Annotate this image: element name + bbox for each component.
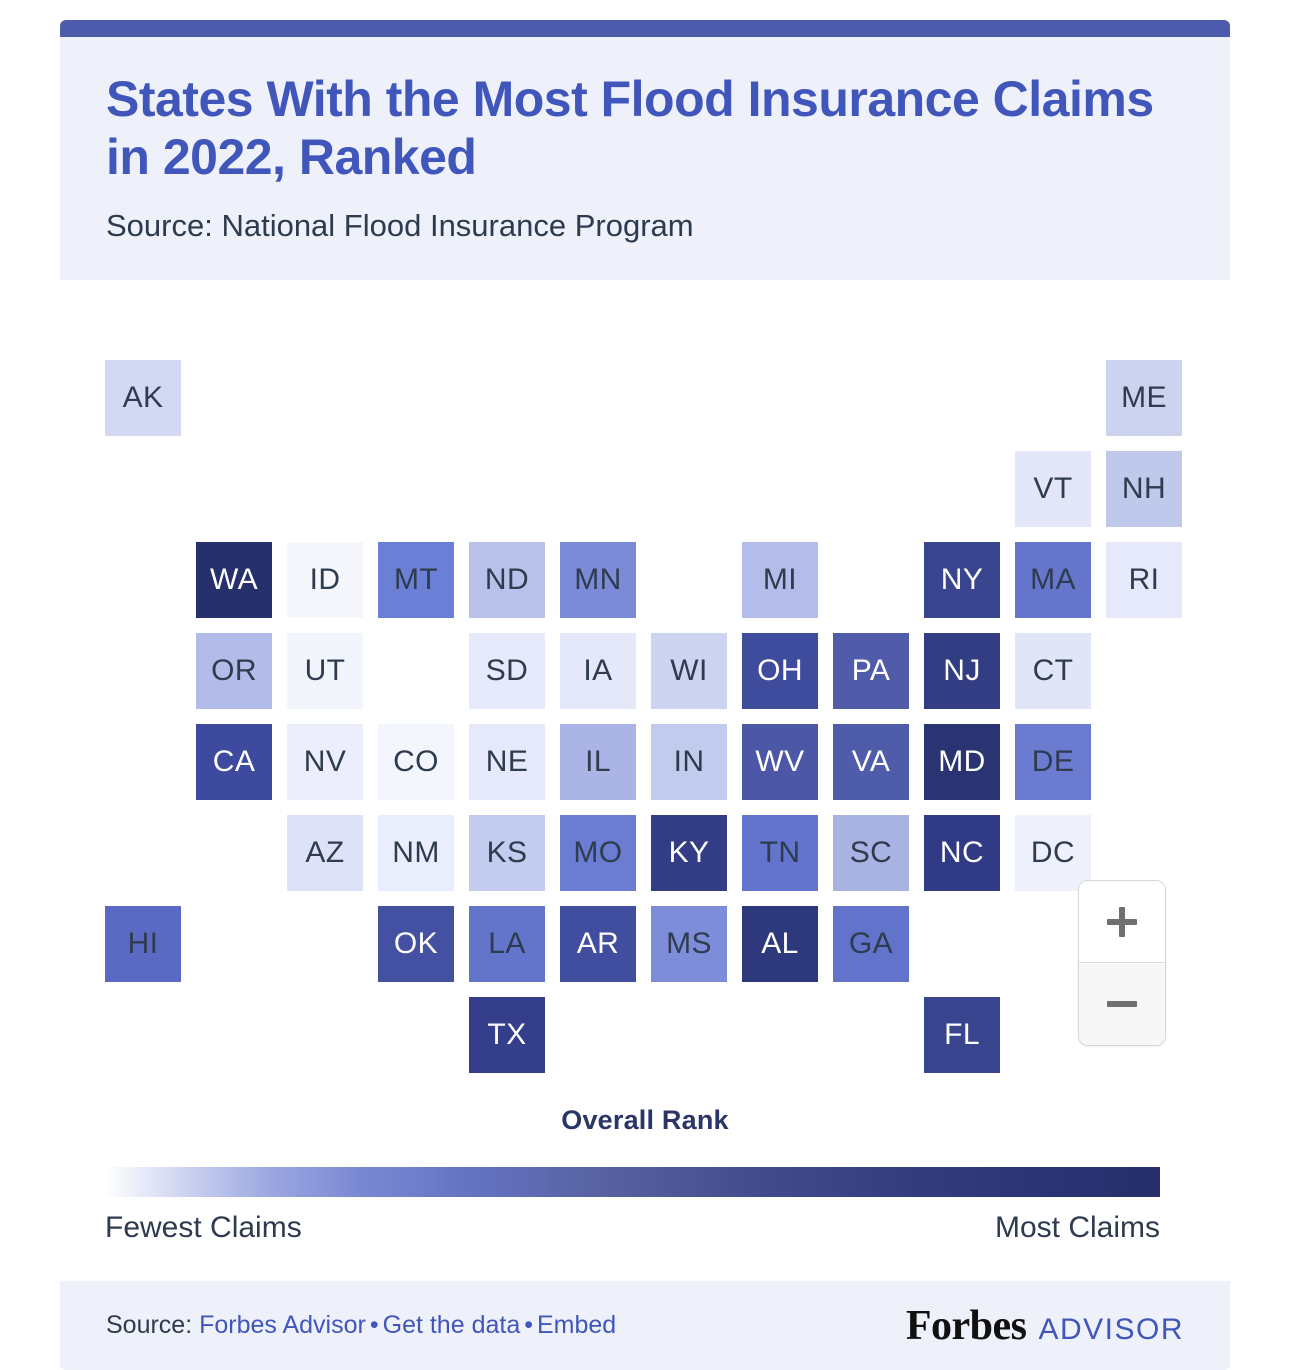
forbes-advisor-logo: Forbes ADVISOR [906,1302,1184,1350]
footer-separator-2: • [524,1311,533,1339]
state-tile-ma[interactable]: MA [1015,542,1091,618]
state-tile-label: NE [486,745,528,779]
state-tile-in[interactable]: IN [651,724,727,800]
state-tile-vt[interactable]: VT [1015,451,1091,527]
legend-high-label: Most Claims [995,1211,1160,1245]
state-tile-mn[interactable]: MN [560,542,636,618]
state-tile-ny[interactable]: NY [924,542,1000,618]
state-tile-pa[interactable]: PA [833,633,909,709]
state-tile-az[interactable]: AZ [287,815,363,891]
state-tile-il[interactable]: IL [560,724,636,800]
brand-advisor-wordmark: ADVISOR [1038,1313,1184,1347]
state-tile-hi[interactable]: HI [105,906,181,982]
state-tile-ri[interactable]: RI [1106,542,1182,618]
legend-gradient-bar [105,1167,1160,1197]
state-tile-label: CA [213,745,255,779]
state-tile-wi[interactable]: WI [651,633,727,709]
state-tile-ct[interactable]: CT [1015,633,1091,709]
state-tile-tn[interactable]: TN [742,815,818,891]
state-tile-label: MA [1030,563,1076,597]
brand-forbes-wordmark: Forbes [906,1302,1027,1350]
state-tile-mo[interactable]: MO [560,815,636,891]
header: States With the Most Flood Insurance Cla… [60,20,1230,280]
state-tile-label: DE [1032,745,1074,779]
state-tile-ne[interactable]: NE [469,724,545,800]
state-tile-label: MD [938,745,985,779]
state-tile-label: NJ [943,654,980,688]
state-tile-ca[interactable]: CA [196,724,272,800]
legend: Overall Rank Fewest Claims Most Claims [0,1105,1290,1136]
state-tile-ut[interactable]: UT [287,633,363,709]
state-tile-va[interactable]: VA [833,724,909,800]
zoom-in-button[interactable] [1079,881,1165,963]
state-tile-me[interactable]: ME [1106,360,1182,436]
state-tile-label: CO [393,745,439,779]
state-tile-nj[interactable]: NJ [924,633,1000,709]
state-tile-label: KY [669,836,710,870]
state-tile-label: WI [670,654,707,688]
state-tile-dc[interactable]: DC [1015,815,1091,891]
state-tile-id[interactable]: ID [287,542,363,618]
state-tile-label: NM [392,836,439,870]
header-body: States With the Most Flood Insurance Cla… [60,37,1230,280]
state-tile-label: WA [210,563,258,597]
state-tile-sc[interactable]: SC [833,815,909,891]
state-tile-sd[interactable]: SD [469,633,545,709]
state-tile-label: TN [760,836,801,870]
state-tile-label: TX [487,1018,526,1052]
state-tile-de[interactable]: DE [1015,724,1091,800]
state-tile-label: IN [674,745,705,779]
state-tile-label: GA [849,927,893,961]
state-tile-label: MO [573,836,622,870]
footer: Source: Forbes Advisor•Get the data•Embe… [60,1281,1230,1370]
state-tile-label: LA [488,927,526,961]
state-tile-label: NY [941,563,983,597]
state-tile-label: FL [944,1018,980,1052]
state-tile-label: PA [852,654,891,688]
state-tile-label: MS [666,927,712,961]
state-tile-label: AK [123,381,164,415]
state-tile-ia[interactable]: IA [560,633,636,709]
legend-low-label: Fewest Claims [105,1211,302,1245]
state-tile-mi[interactable]: MI [742,542,818,618]
state-tile-label: OK [394,927,438,961]
state-tile-wa[interactable]: WA [196,542,272,618]
state-tile-ga[interactable]: GA [833,906,909,982]
state-tile-label: MN [574,563,621,597]
state-tile-label: OR [211,654,257,688]
state-tile-nh[interactable]: NH [1106,451,1182,527]
footer-source-line: Source: Forbes Advisor•Get the data•Embe… [106,1311,616,1340]
state-tile-ms[interactable]: MS [651,906,727,982]
state-tile-label: ME [1121,381,1167,415]
state-tile-label: MT [394,563,438,597]
state-tile-label: AR [577,927,619,961]
state-tile-label: IL [585,745,611,779]
state-tile-label: AZ [305,836,344,870]
state-tile-ks[interactable]: KS [469,815,545,891]
state-tile-label: IA [583,654,612,688]
state-tile-mt[interactable]: MT [378,542,454,618]
state-tile-ok[interactable]: OK [378,906,454,982]
state-tile-label: VA [852,745,891,779]
state-tile-label: WV [755,745,804,779]
footer-link-forbes-advisor[interactable]: Forbes Advisor [199,1311,366,1339]
state-tile-label: HI [128,927,159,961]
state-tile-label: RI [1129,563,1160,597]
footer-link-embed[interactable]: Embed [537,1311,616,1339]
state-tile-label: UT [305,654,346,688]
state-tile-md[interactable]: MD [924,724,1000,800]
state-tile-label: CT [1033,654,1074,688]
page-title: States With the Most Flood Insurance Cla… [106,71,1184,186]
state-tile-la[interactable]: LA [469,906,545,982]
legend-title: Overall Rank [0,1105,1290,1136]
state-tile-label: NC [940,836,984,870]
state-tile-label: SC [850,836,892,870]
footer-separator-1: • [370,1311,379,1339]
state-tile-oh[interactable]: OH [742,633,818,709]
state-tile-nc[interactable]: NC [924,815,1000,891]
state-tile-label: KS [487,836,528,870]
state-tile-label: AL [761,927,799,961]
state-tile-label: MI [763,563,797,597]
state-tile-fl[interactable]: FL [924,997,1000,1073]
state-tile-nm[interactable]: NM [378,815,454,891]
state-tile-label: DC [1031,836,1075,870]
state-tile-label: ID [310,563,341,597]
state-tile-label: VT [1033,472,1072,506]
state-tile-ak[interactable]: AK [105,360,181,436]
zoom-out-button[interactable] [1079,963,1165,1045]
map-zoom-control[interactable] [1078,880,1166,1046]
state-tile-or[interactable]: OR [196,633,272,709]
state-tile-ky[interactable]: KY [651,815,727,891]
state-tile-ar[interactable]: AR [560,906,636,982]
state-tile-tx[interactable]: TX [469,997,545,1073]
state-tile-label: NH [1122,472,1166,506]
state-tile-co[interactable]: CO [378,724,454,800]
state-tile-label: SD [486,654,528,688]
state-tile-label: ND [485,563,529,597]
state-tile-nv[interactable]: NV [287,724,363,800]
page-subtitle: Source: National Flood Insurance Program [106,208,1184,244]
state-tile-label: NV [304,745,346,779]
state-tile-wv[interactable]: WV [742,724,818,800]
state-tile-nd[interactable]: ND [469,542,545,618]
infographic-root: States With the Most Flood Insurance Cla… [0,0,1290,1370]
header-accent-bar [60,20,1230,37]
footer-link-get-the-data[interactable]: Get the data [383,1311,521,1339]
state-tile-label: OH [757,654,803,688]
state-tile-al[interactable]: AL [742,906,818,982]
footer-source-prefix: Source: [106,1311,199,1339]
